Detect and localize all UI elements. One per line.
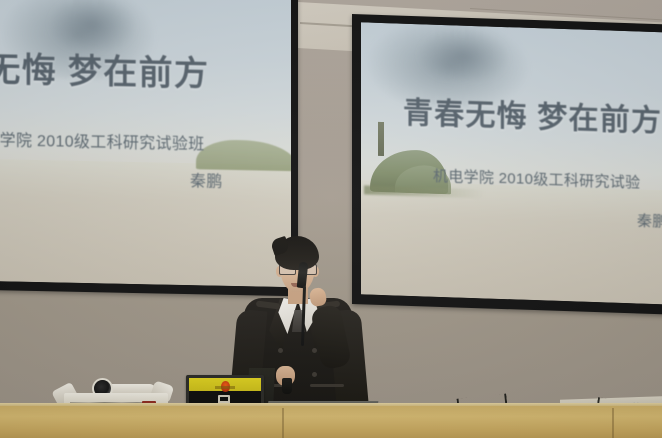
right-slide-title: 青春无悔 梦在前方 bbox=[403, 88, 662, 141]
coat-pocket-right bbox=[310, 384, 344, 387]
desk-surface bbox=[0, 406, 662, 438]
pagoda-icon bbox=[378, 122, 384, 156]
right-slide: 青春无悔 梦在前方 机电学院 2010级工科研究试验 秦鹏 bbox=[361, 22, 662, 304]
desk-panel-seam bbox=[282, 408, 284, 438]
left-slide-presenter-name: 秦鹏 bbox=[190, 167, 223, 192]
left-slide-far-shore bbox=[196, 122, 291, 171]
coat-button bbox=[312, 372, 317, 377]
desk-panel-seam bbox=[612, 408, 614, 438]
microphone-lower-end bbox=[282, 378, 292, 394]
right-slide-presenter-name: 秦鹏 bbox=[637, 209, 662, 231]
left-slide-title: 春无悔 梦在前方 bbox=[0, 41, 209, 95]
lecture-hall-photo: 春无悔 梦在前方 机电学院 2010级工科研究试验班 秦鹏 青春无悔 梦在前方 … bbox=[0, 0, 662, 438]
coat-button bbox=[312, 348, 317, 353]
coat-button bbox=[278, 348, 283, 353]
right-slide-ink-mountain-dark bbox=[411, 22, 516, 82]
right-projection-screen: 青春无悔 梦在前方 机电学院 2010级工科研究试验 秦鹏 bbox=[352, 14, 662, 315]
left-slide-subtitle: 机电学院 2010级工科研究试验班 bbox=[0, 126, 204, 155]
right-slide-water bbox=[361, 180, 662, 305]
laptop-screen-caption bbox=[215, 386, 235, 389]
